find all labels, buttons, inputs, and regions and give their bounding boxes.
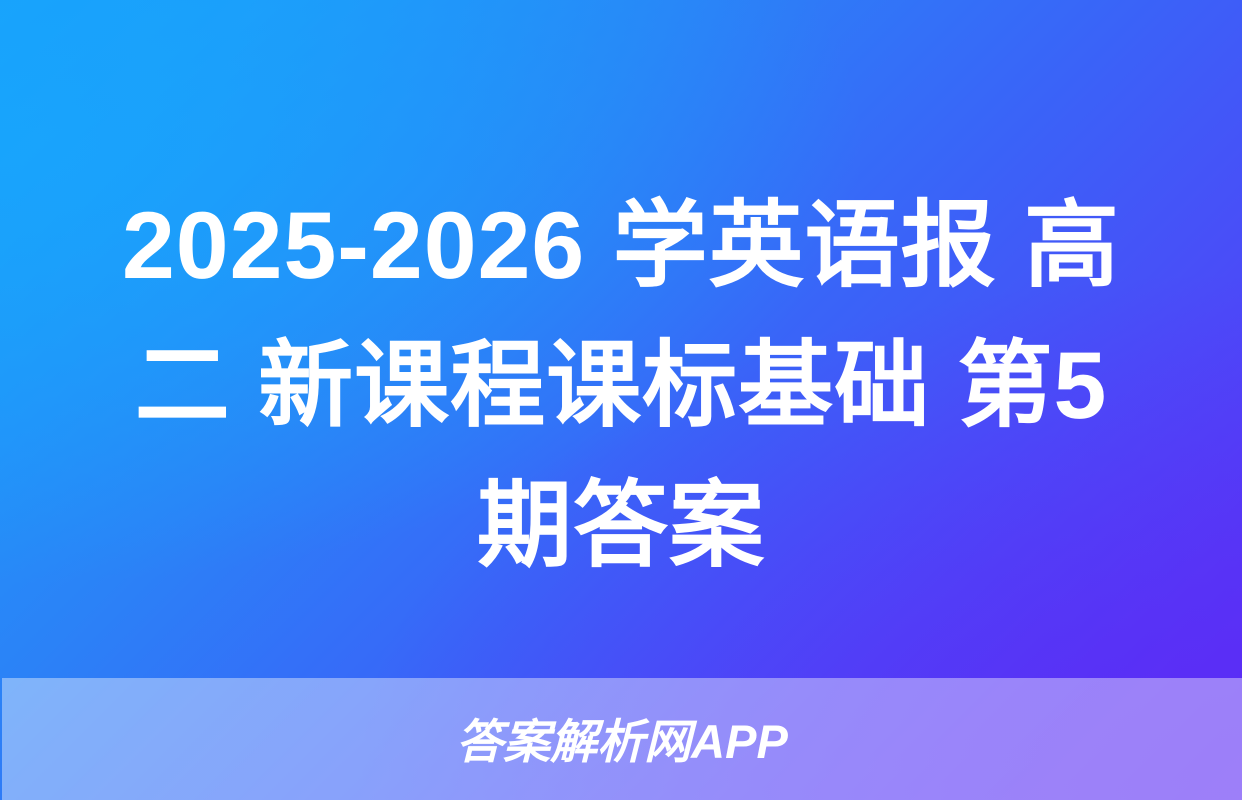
title-line-2: 二 新课程课标基础 第5 xyxy=(62,316,1180,456)
footer-banner: 答案解析网APP xyxy=(2,678,1242,800)
title-line-3: 期答案 xyxy=(62,456,1180,596)
poster-canvas: 2025-2026 学英语报 高 二 新课程课标基础 第5 期答案 答案解析网A… xyxy=(0,0,1242,800)
poster-title: 2025-2026 学英语报 高 二 新课程课标基础 第5 期答案 xyxy=(0,176,1242,596)
title-line-1: 2025-2026 学英语报 高 xyxy=(62,176,1180,316)
app-branding-label: 答案解析网APP xyxy=(456,718,788,765)
